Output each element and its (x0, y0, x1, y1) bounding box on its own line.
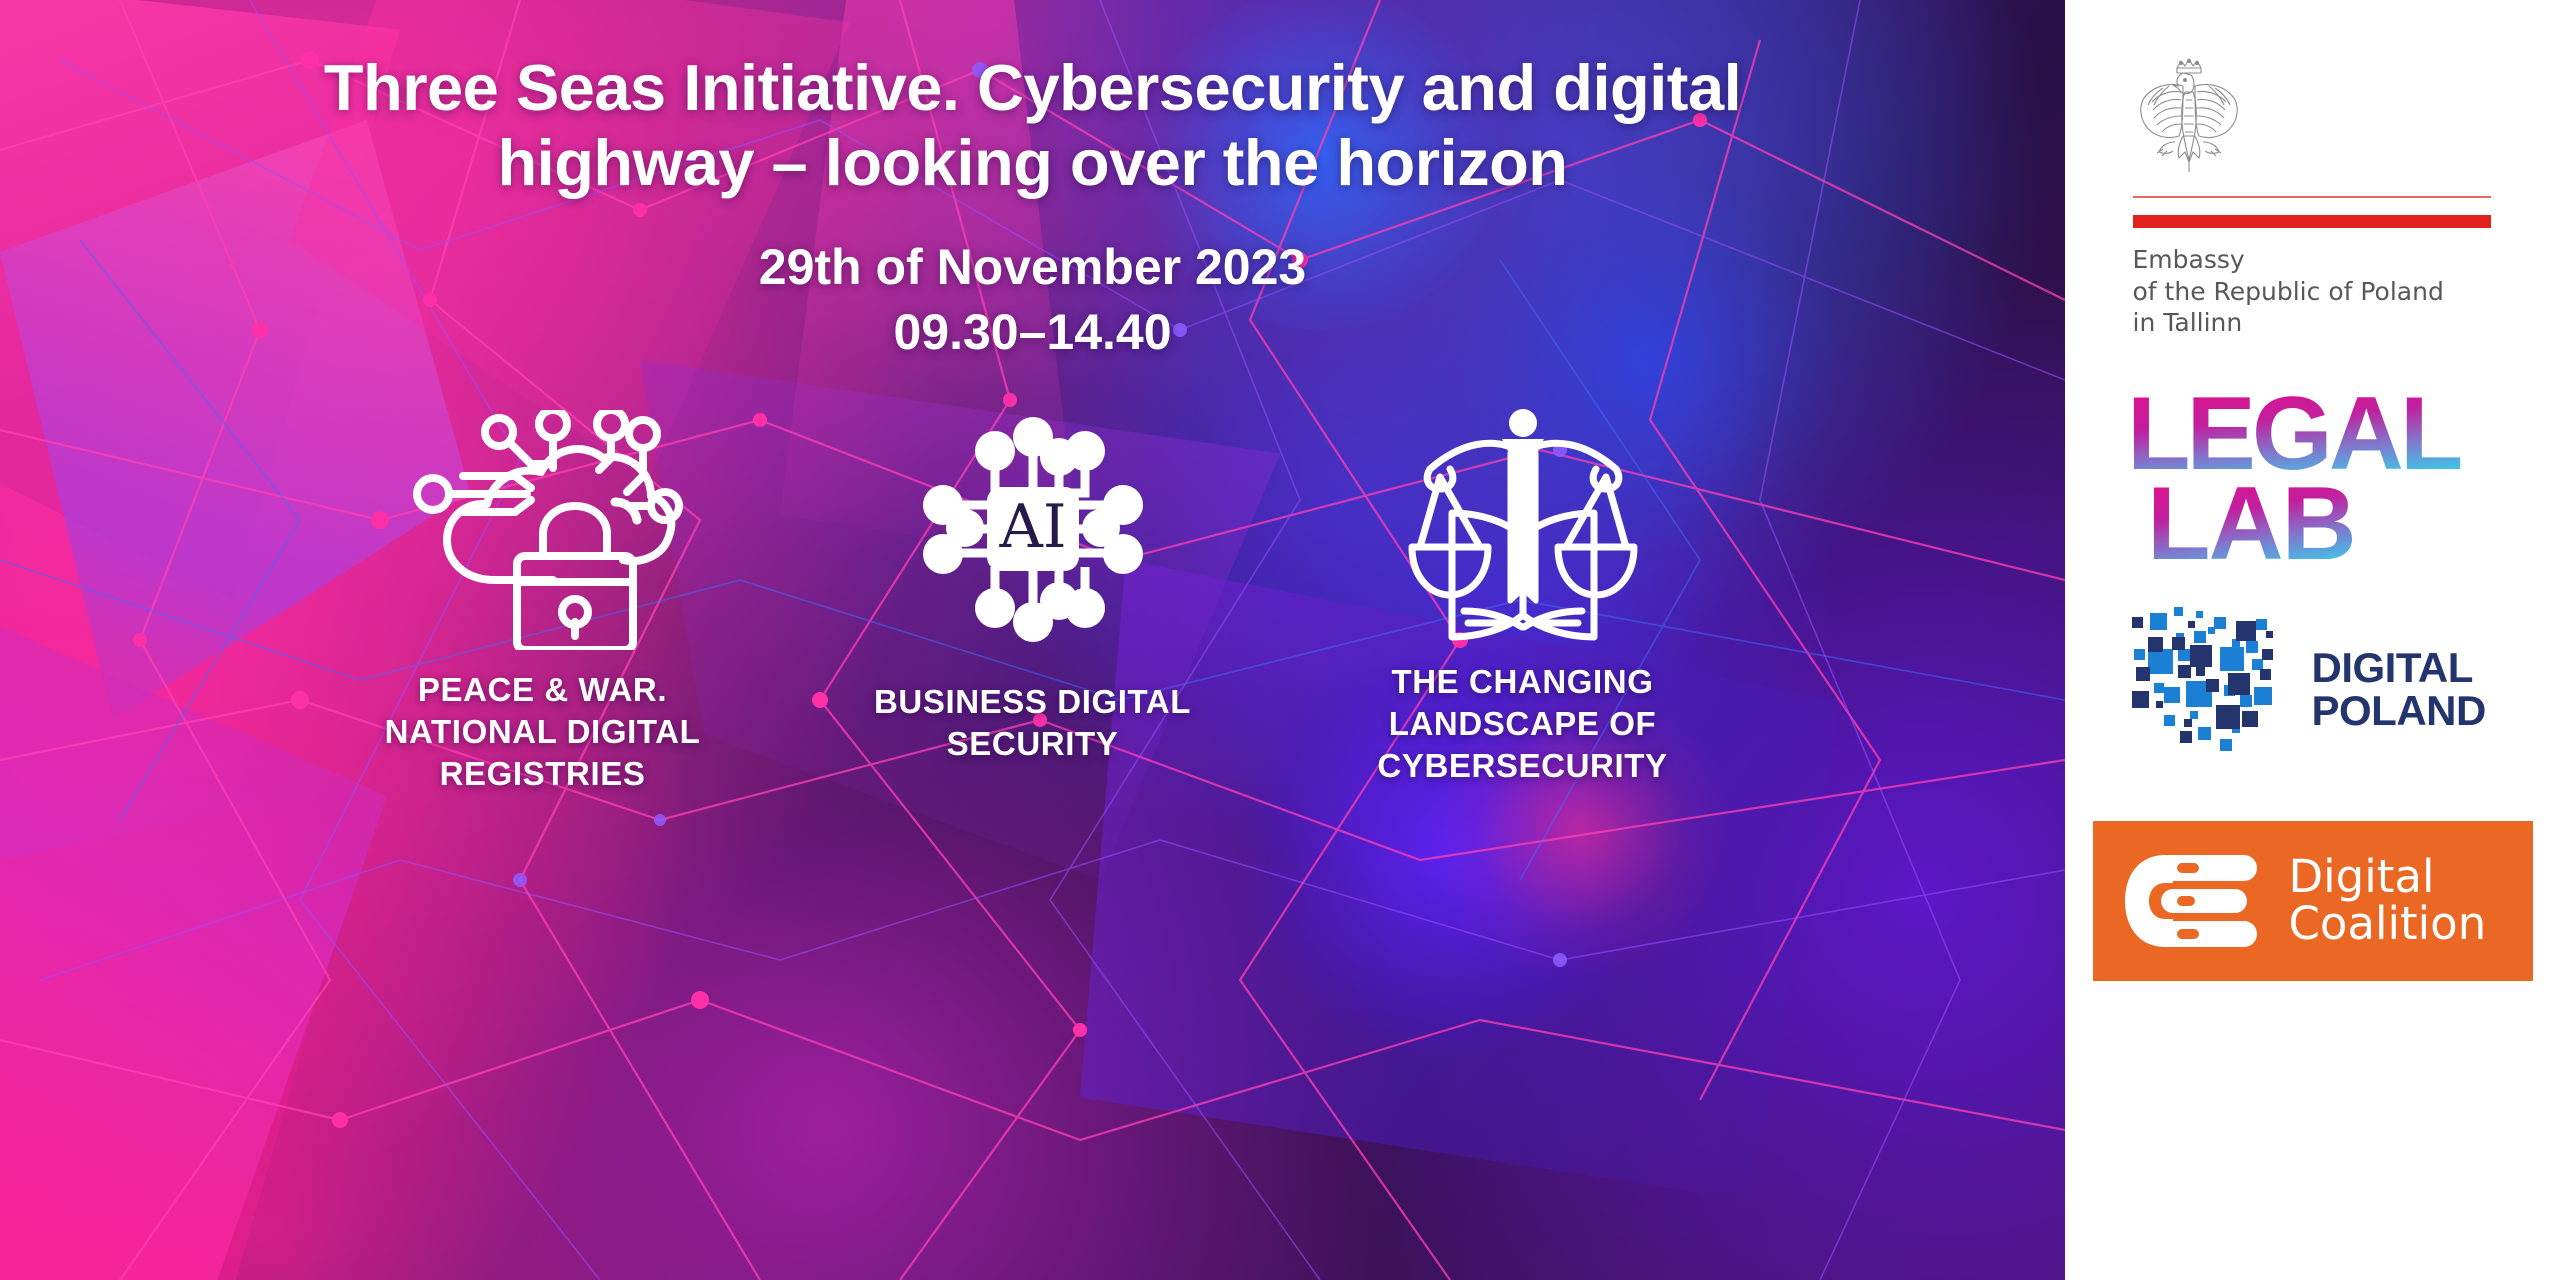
event-title: Three Seas Initiative. Cybersecurity and… (213, 50, 1853, 201)
legal-lab-wordmark: LEGAL LAB (2133, 385, 2493, 565)
topic-card-label: BUSINESS DIGITAL SECURITY (818, 681, 1248, 765)
logo-embassy-of-poland: Embassy of the Republic of Poland in Tal… (2133, 52, 2493, 339)
logo-digital-poland: DIGITAL POLAND (2128, 605, 2498, 775)
digital-poland-line-2: POLAND (2312, 690, 2486, 733)
topic-card-business-security: AI BUSINESS DIGITAL SECURITY (818, 405, 1248, 765)
topic-cards: PEACE & WAR. NATIONAL DIGITAL REGISTRIES (0, 405, 2065, 796)
event-banner: Three Seas Initiative. Cybersecurity and… (0, 0, 2560, 1280)
embassy-flag-rules (2133, 196, 2491, 228)
ai-chip-text: AI (998, 492, 1066, 562)
event-date: 29th of November 2023 (759, 235, 1306, 300)
embassy-thin-rule (2133, 196, 2491, 198)
topic-card-peace-war: PEACE & WAR. NATIONAL DIGITAL REGISTRIES (328, 405, 758, 796)
cloud-lock-icon (403, 405, 683, 655)
ai-chip-icon: AI (923, 405, 1143, 655)
digital-coalition-line-2: Coalition (2289, 901, 2487, 947)
polish-eagle-emblem (2133, 52, 2493, 174)
topic-card-label: PEACE & WAR. NATIONAL DIGITAL REGISTRIES (328, 669, 758, 796)
digital-poland-line-1: DIGITAL (2312, 647, 2486, 690)
embassy-line-2: of the Republic of Poland (2133, 276, 2491, 308)
digital-coalition-wordmark: Digital Coalition (2289, 854, 2487, 947)
embassy-line-1: Embassy (2133, 244, 2491, 276)
embassy-line-3: in Tallinn (2133, 307, 2491, 339)
sponsor-rail: Embassy of the Republic of Poland in Tal… (2065, 0, 2560, 1280)
embassy-caption: Embassy of the Republic of Poland in Tal… (2133, 244, 2491, 339)
logo-legal-lab: LEGAL LAB (2133, 385, 2493, 565)
event-datetime: 29th of November 2023 09.30–14.40 (759, 235, 1306, 365)
topic-card-label: THE CHANGING LANDSCAPE OF CYBERSECURITY (1308, 661, 1738, 788)
digital-poland-mosaic-icon (2128, 605, 2298, 775)
logo-digital-coalition: Digital Coalition (2093, 821, 2533, 981)
hero-panel: Three Seas Initiative. Cybersecurity and… (0, 0, 2065, 1280)
embassy-red-bar (2133, 215, 2491, 228)
topic-card-changing-landscape: THE CHANGING LANDSCAPE OF CYBERSECURITY (1308, 405, 1738, 788)
legal-lab-line-2: LAB (2147, 466, 2355, 565)
hero-content: Three Seas Initiative. Cybersecurity and… (0, 0, 2065, 1280)
digital-coalition-line-1: Digital (2289, 854, 2487, 900)
scales-book-icon (1398, 405, 1648, 655)
event-time: 09.30–14.40 (759, 300, 1306, 365)
digital-poland-wordmark: DIGITAL POLAND (2312, 647, 2486, 733)
digital-coalition-mark-icon (2121, 851, 2271, 951)
